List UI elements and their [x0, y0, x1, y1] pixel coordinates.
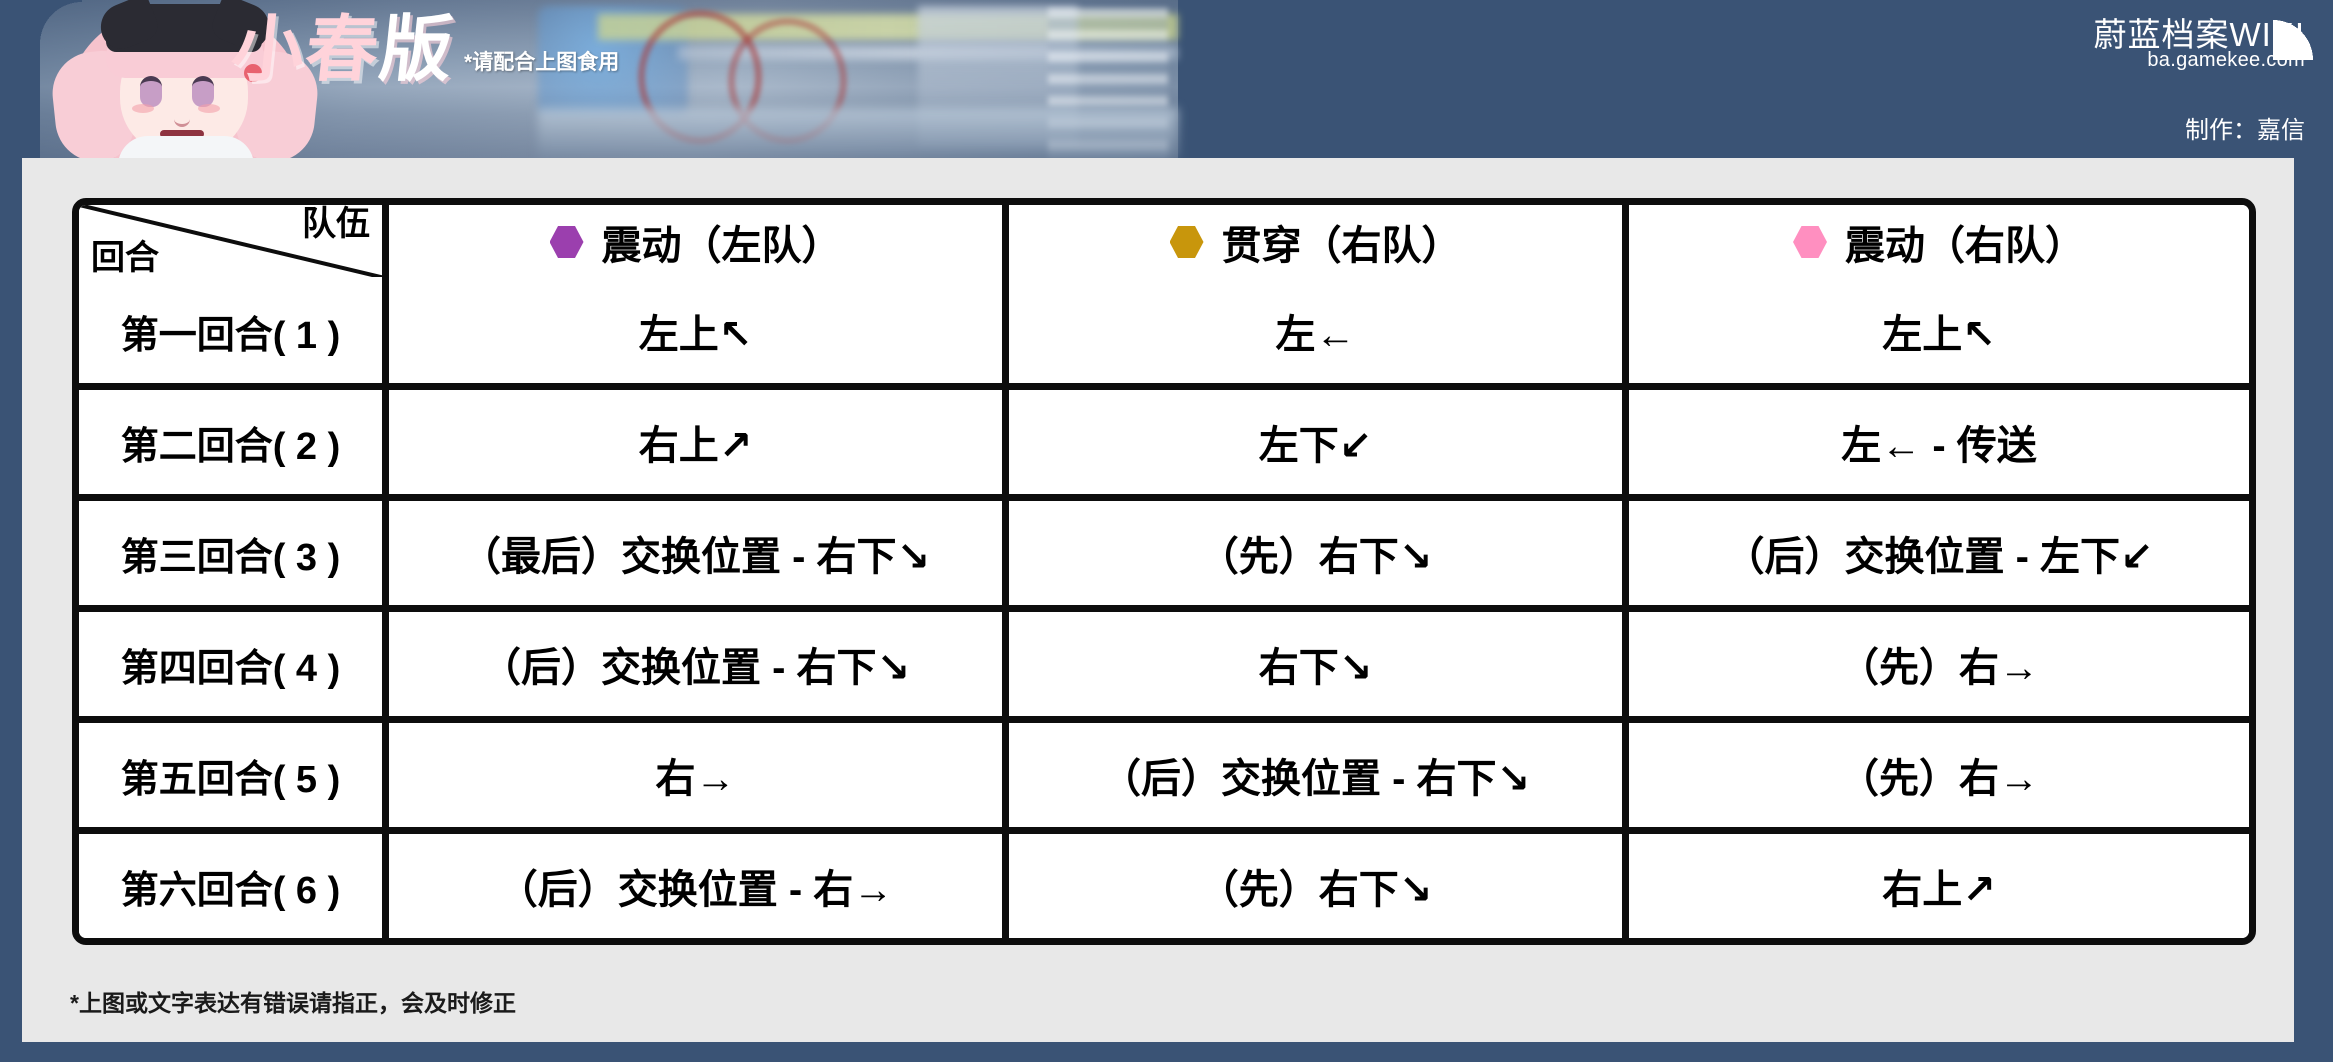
content-panel-inner: 队伍 回合 震动（左队）	[22, 158, 2294, 1042]
column-header-3: 震动（右队）	[1629, 205, 2249, 279]
column-header-label-3: 震动（右队）	[1845, 213, 2085, 271]
cell-r6c1: （后）交换位置 - 右→	[389, 834, 1009, 938]
round-label-2: 第二回合( 2 )	[79, 390, 389, 501]
character-blush-left	[132, 104, 154, 113]
banner-corner-notch	[2273, 0, 2333, 60]
cell-r1c1: 左上↖	[389, 279, 1009, 390]
credit-text: 制作：嘉信	[2185, 110, 2305, 145]
table-corner-cell: 队伍 回合	[79, 205, 389, 279]
corner-label-team: 队伍	[302, 207, 370, 241]
table-row: 第一回合( 1 ) 左上↖ 左← 左上↖	[79, 279, 2249, 390]
rotation-table: 队伍 回合 震动（左队）	[72, 198, 2256, 945]
cell-r1c2: 左←	[1009, 279, 1629, 390]
character-body	[118, 136, 254, 158]
round-label-5: 第五回合( 5 )	[79, 723, 389, 834]
hexagon-marker-icon	[1793, 225, 1827, 259]
banner: 小春版 *请配合上图食用 蔚蓝档案WIKI ba.gamekee.com 制作：…	[0, 0, 2333, 158]
hexagon-marker-icon	[1170, 225, 1204, 259]
round-label-1: 第一回合( 1 )	[79, 279, 389, 390]
table-header: 队伍 回合 震动（左队）	[79, 205, 2249, 279]
cell-r4c3: （先）右→	[1629, 612, 2249, 723]
cell-r5c3: （先）右→	[1629, 723, 2249, 834]
round-label-4: 第四回合( 4 )	[79, 612, 389, 723]
table-row: 第六回合( 6 ) （后）交换位置 - 右→ （先）右下↘ 右上↗	[79, 834, 2249, 938]
footer-note: *上图或文字表达有错误请指正，会及时修正	[70, 984, 516, 1018]
cell-r6c2: （先）右下↘	[1009, 834, 1629, 938]
cell-r4c2: 右下↘	[1009, 612, 1629, 723]
cell-r3c1: （最后）交换位置 - 右下↘	[389, 501, 1009, 612]
banner-left-edge	[0, 0, 40, 158]
cell-r6c3: 右上↗	[1629, 834, 2249, 938]
banner-title-group: 小春版 *请配合上图食用	[232, 14, 619, 86]
table-row: 第二回合( 2 ) 右上↗ 左下↙ 左← - 传送	[79, 390, 2249, 501]
character-blush-right	[198, 104, 220, 113]
cell-r4c1: （后）交换位置 - 右下↘	[389, 612, 1009, 723]
banner-subtitle: *请配合上图食用	[464, 46, 619, 76]
column-header-label-2: 贯穿（右队）	[1222, 213, 1462, 271]
character-eye-right	[192, 76, 214, 107]
backdrop-bottom-band	[538, 108, 1178, 158]
table-row: 第三回合( 3 ) （最后）交换位置 - 右下↘ （先）右下↘ （后）交换位置 …	[79, 501, 2249, 612]
banner-title-pink: 小春	[228, 10, 384, 90]
cell-r1c3: 左上↖	[1629, 279, 2249, 390]
column-header-1: 震动（左队）	[389, 205, 1009, 279]
cell-r5c1: 右→	[389, 723, 1009, 834]
cell-r3c2: （先）右下↘	[1009, 501, 1629, 612]
table-row: 第五回合( 5 ) 右→ （后）交换位置 - 右下↘ （先）右→	[79, 723, 2249, 834]
round-label-3: 第三回合( 3 )	[79, 501, 389, 612]
corner-label-round: 回合	[91, 241, 159, 275]
column-header-label-1: 震动（左队）	[602, 213, 842, 271]
banner-title: 小春版	[228, 14, 458, 86]
cell-r5c2: （后）交换位置 - 右下↘	[1009, 723, 1629, 834]
table-body: 第一回合( 1 ) 左上↖ 左← 左上↖ 第二回合( 2 ) 右上↗ 左下↙ 左…	[79, 279, 2249, 938]
cell-r3c3: （后）交换位置 - 左下↙	[1629, 501, 2249, 612]
character-eye-left	[140, 76, 162, 107]
table-header-row: 队伍 回合 震动（左队）	[79, 205, 2249, 279]
hexagon-marker-icon	[550, 225, 584, 259]
banner-title-white: 版	[376, 10, 458, 90]
rotation-table-wrapper: 队伍 回合 震动（左队）	[72, 198, 2255, 945]
table-row: 第四回合( 4 ) （后）交换位置 - 右下↘ 右下↘ （先）右→	[79, 612, 2249, 723]
content-panel: 队伍 回合 震动（左队）	[0, 158, 2333, 1062]
column-header-2: 贯穿（右队）	[1009, 205, 1629, 279]
round-label-6: 第六回合( 6 )	[79, 834, 389, 938]
guide-infographic: 小春版 *请配合上图食用 蔚蓝档案WIKI ba.gamekee.com 制作：…	[0, 0, 2333, 1062]
cell-r2c2: 左下↙	[1009, 390, 1629, 501]
cell-r2c1: 右上↗	[389, 390, 1009, 501]
cell-r2c3: 左← - 传送	[1629, 390, 2249, 501]
